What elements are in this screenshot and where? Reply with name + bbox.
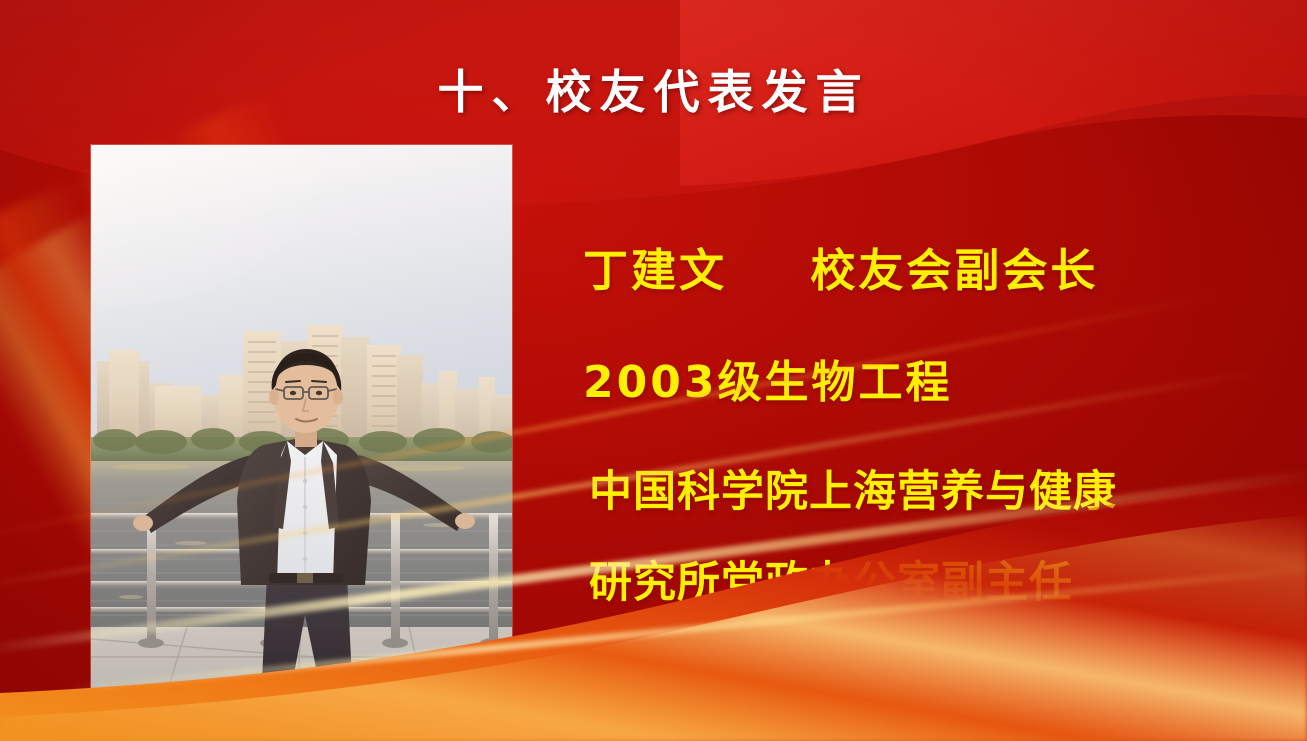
speaker-photo — [91, 145, 512, 705]
speaker-role: 校友会副会长 — [810, 244, 1098, 297]
speaker-info: 丁建文 校友会副会长 2003级生物工程 中国科学院上海营养与健康 研究所党政办… — [583, 248, 1283, 605]
speaker-class-major: 2003级生物工程 — [583, 361, 1283, 405]
speaker-name: 丁建文 — [583, 244, 727, 297]
speaker-organization-line1: 中国科学院上海营养与健康 — [589, 471, 1283, 514]
slide-title: 十、校友代表发言 — [0, 56, 1307, 122]
speaker-photo-image — [91, 145, 512, 705]
speaker-organization-line2: 研究所党政办公室副主任 — [589, 562, 1283, 605]
speaker-name-and-role: 丁建文 校友会副会长 — [583, 248, 1283, 293]
presentation-slide: 十、校友代表发言 — [0, 0, 1307, 741]
